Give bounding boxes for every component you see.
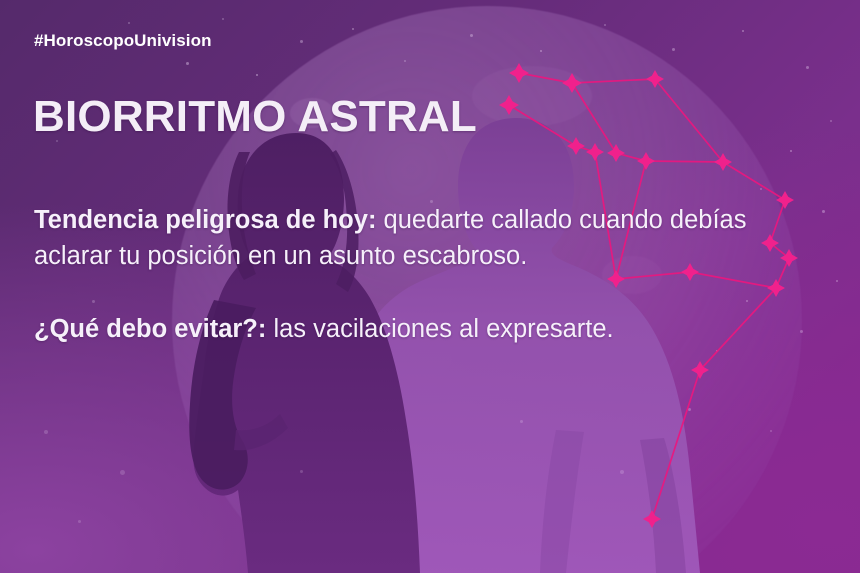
horoscope-body: Tendencia peligrosa de hoy: quedarte cal… <box>34 203 794 348</box>
horoscope-card: #HoroscopoUnivision BIORRITMO ASTRAL Ten… <box>0 0 860 573</box>
paragraph-tendencia: Tendencia peligrosa de hoy: quedarte cal… <box>34 203 794 274</box>
paragraph-label: Tendencia peligrosa de hoy: <box>34 206 376 234</box>
paragraph-label: ¿Qué debo evitar?: <box>34 315 266 343</box>
page-title: BIORRITMO ASTRAL <box>33 95 477 139</box>
paragraph-evitar: ¿Qué debo evitar?: las vacilaciones al e… <box>34 312 794 348</box>
hashtag-label: #HoroscopoUnivision <box>34 31 212 51</box>
paragraph-text: las vacilaciones al expresarte. <box>266 315 613 343</box>
